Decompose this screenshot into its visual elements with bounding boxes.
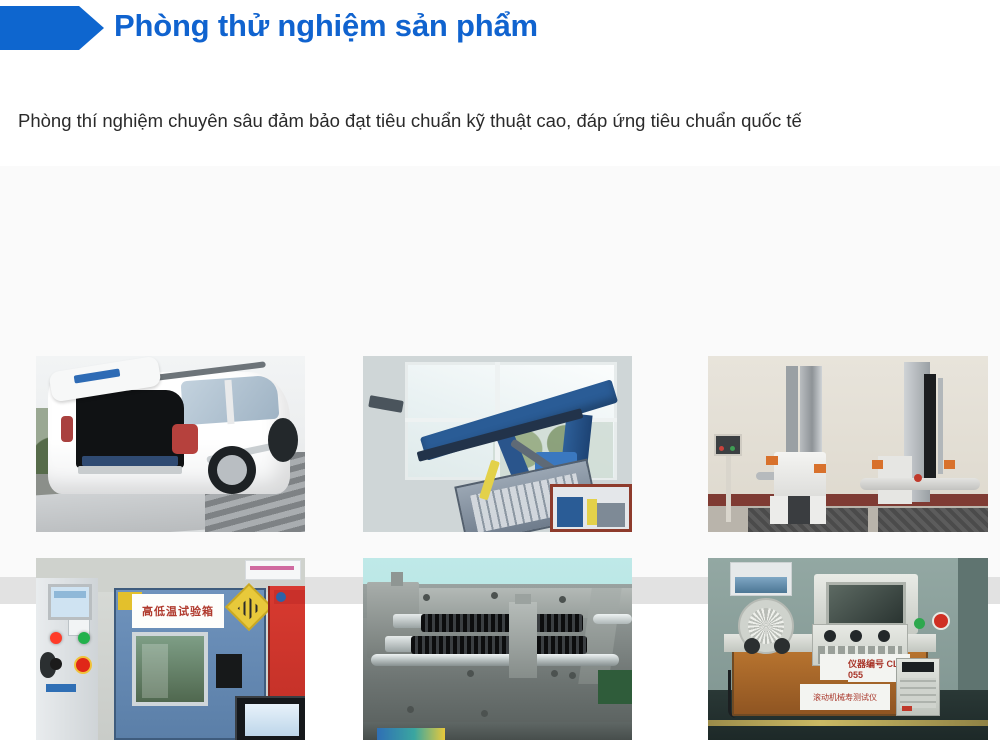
photo-scene: 高低温试验箱 <box>36 558 305 740</box>
photo-spring-durability-fixture[interactable] <box>363 558 632 740</box>
intro-subtitle: Phòng thí nghiệm chuyên sâu đảm bảo đạt … <box>18 110 802 132</box>
photo-inset-thumbnail <box>550 484 632 532</box>
photo-scene <box>36 356 305 532</box>
photo-scene <box>363 356 632 532</box>
page-header: Phòng thử nghiệm sản phẩm <box>0 0 1000 78</box>
photo-blue-tilt-test-rig[interactable] <box>363 356 632 532</box>
photo-suv-tailgate-ramp-test[interactable] <box>36 356 305 532</box>
photo-rolling-life-test-bench[interactable]: 仪器编号 CL-055 滚动机械寿测试仪 <box>708 558 988 740</box>
control-pedestal <box>714 434 742 522</box>
red-indicator-icon <box>50 632 62 644</box>
emergency-stop-icon <box>932 612 950 630</box>
intro-section: Phòng thí nghiệm chuyên sâu đảm bảo đạt … <box>0 78 1000 166</box>
photo-high-low-temperature-chamber[interactable]: 高低温试验箱 <box>36 558 305 740</box>
photo-scene: 仪器编号 CL-055 滚动机械寿测试仪 <box>708 558 988 740</box>
photo-drop-test-towers[interactable] <box>708 356 988 532</box>
page-title: Phòng thử nghiệm sản phẩm <box>114 8 538 44</box>
black-button-icon <box>50 658 62 670</box>
emergency-stop-icon <box>74 656 92 674</box>
crt-monitor <box>826 582 906 626</box>
green-button-icon <box>914 618 925 629</box>
chamber-sign-text: 高低温试验箱 <box>142 603 214 619</box>
photo-gallery-panel: cảm ) Tha <box>0 166 1000 604</box>
machine-name-text: 滚动机械寿测试仪 <box>813 692 877 703</box>
photo-inset-thumbnail <box>235 696 305 740</box>
machine-name-label: 滚动机械寿测试仪 <box>800 684 890 710</box>
chamber-sign: 高低温试验箱 <box>132 594 224 628</box>
photo-scene <box>363 558 632 740</box>
green-indicator-icon <box>78 632 90 644</box>
photo-scene <box>708 356 988 532</box>
arrow-banner-icon <box>0 6 104 50</box>
